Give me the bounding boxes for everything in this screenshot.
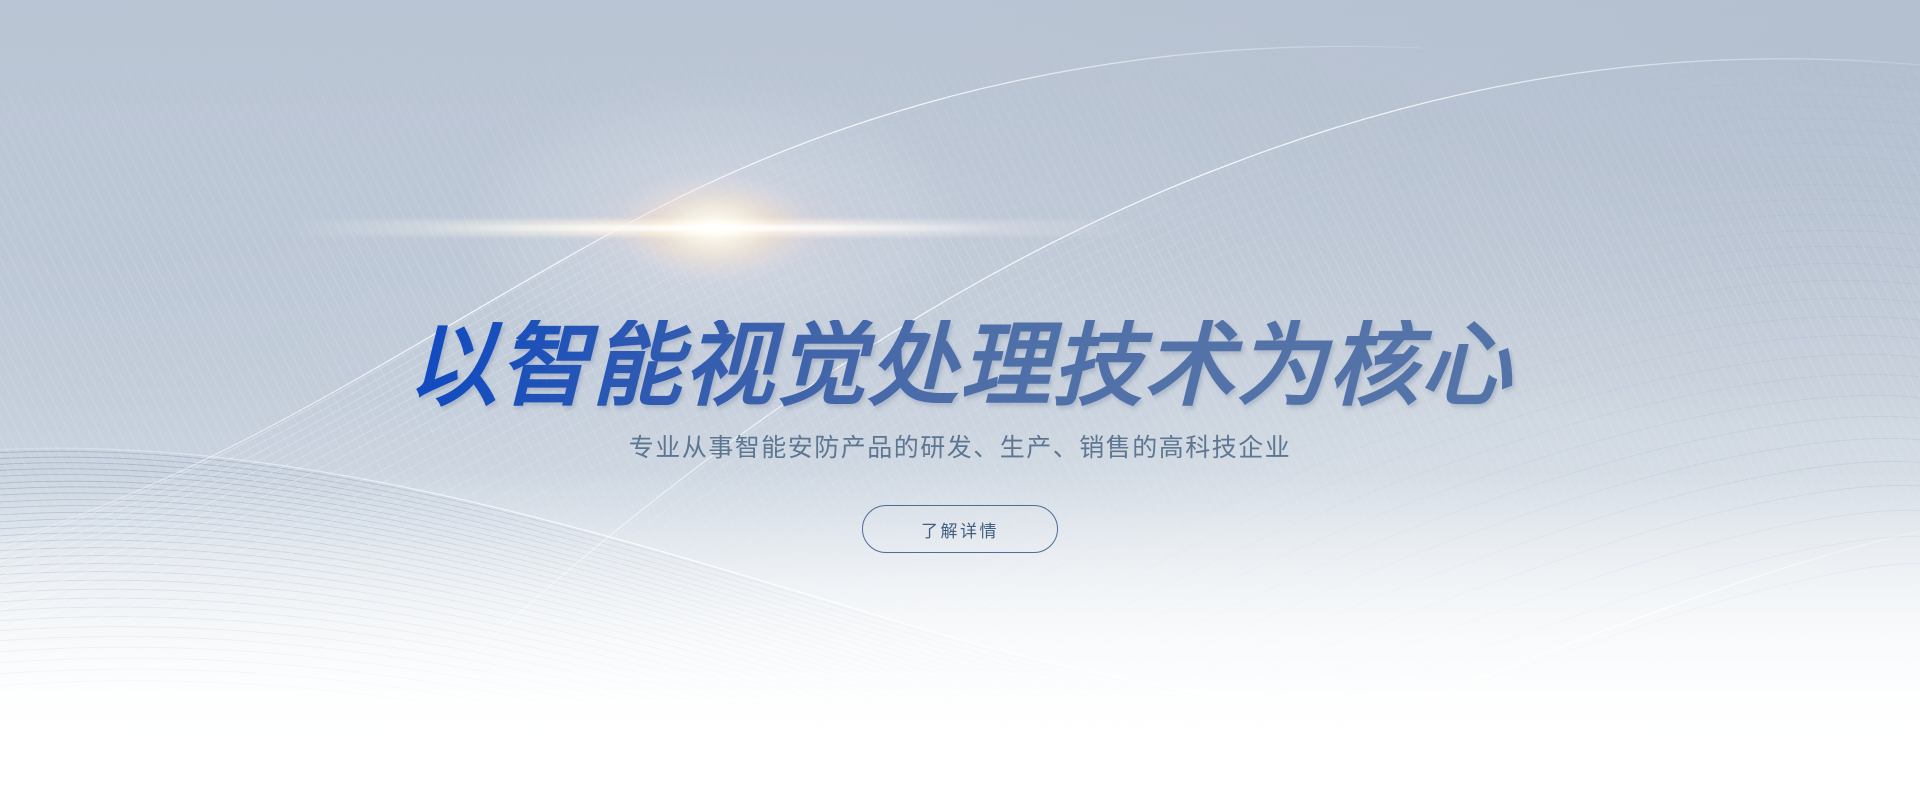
hero-banner: 以智能视觉处理技术为核心 专业从事智能安防产品的研发、生产、销售的高科技企业 了…: [0, 0, 1920, 800]
hero-subtitle: 专业从事智能安防产品的研发、生产、销售的高科技企业: [0, 430, 1920, 468]
hero-headline: 以智能视觉处理技术为核心: [19, 320, 1901, 412]
hero-cta-wrapper: 了解详情: [0, 505, 1920, 553]
hero-content: 以智能视觉处理技术为核心 专业从事智能安防产品的研发、生产、销售的高科技企业 了…: [0, 0, 1920, 800]
learn-more-button[interactable]: 了解详情: [862, 505, 1058, 553]
